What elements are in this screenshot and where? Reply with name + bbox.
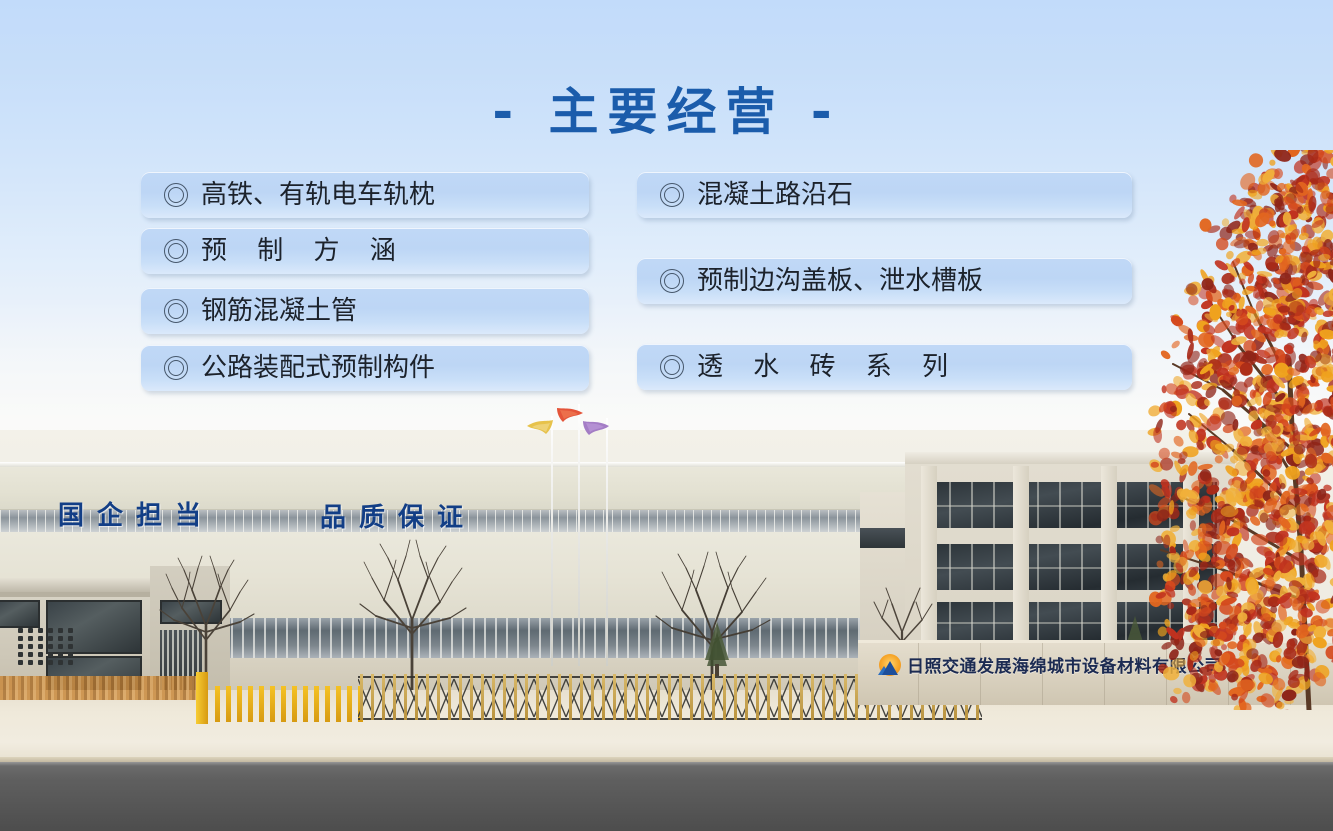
service-item-right-2[interactable]: 预制边沟盖板、泄水槽板: [637, 258, 1132, 304]
logo-mountain-front: [882, 661, 898, 675]
service-item-left-3[interactable]: 钢筋混凝土管: [141, 288, 589, 334]
bullet-ring-icon: [163, 298, 189, 324]
service-item-right-1[interactable]: 混凝土路沿石: [637, 172, 1132, 218]
guardhouse-window-2: [0, 600, 40, 628]
sun-mountain-logo-icon: [878, 654, 902, 676]
service-item-left-1[interactable]: 高铁、有轨电车轨枕: [141, 172, 589, 218]
office-pillar-2: [1101, 466, 1117, 651]
building-sign-right: 品质保证: [320, 497, 476, 534]
flagpole-3: [606, 418, 608, 666]
service-item-left-2[interactable]: 预 制 方 涵: [141, 228, 589, 274]
gate-post-yellow: [196, 672, 208, 724]
promo-banner: 国企担当 品质保证: [0, 0, 1333, 831]
yellow-barrier-gate: [215, 686, 365, 722]
bare-tree-1: [148, 548, 268, 688]
bullet-ring-icon: [163, 238, 189, 264]
office-pillar-1: [1013, 466, 1029, 651]
service-label: 混凝土路沿石: [697, 182, 853, 208]
service-label: 高铁、有轨电车轨枕: [201, 182, 435, 208]
gold-flag: [524, 418, 554, 448]
service-label: 钢筋混凝土管: [201, 298, 357, 324]
dry-grass-left: [0, 676, 200, 700]
service-item-right-3[interactable]: 透 水 砖 系 列: [637, 344, 1132, 390]
company-sign: 日照交通发展海绵城市设备材料有限公司: [878, 652, 1222, 677]
company-name-text: 日照交通发展海绵城市设备材料有限公司: [907, 652, 1222, 677]
guardhouse-vent-grid: [18, 628, 80, 668]
bullet-ring-icon: [163, 182, 189, 208]
building-sign-left: 国企担当: [58, 495, 214, 532]
service-label: 预 制 方 涵: [201, 238, 407, 264]
office-window-row-3: [927, 602, 1217, 642]
office-building: [905, 452, 1235, 657]
bullet-ring-icon: [659, 182, 685, 208]
purple-flag: [582, 420, 612, 450]
office-pillar-3: [1183, 466, 1199, 651]
bullet-ring-icon: [163, 355, 189, 381]
asphalt-road: [0, 762, 1333, 831]
office-window-row-1: [927, 482, 1217, 528]
flagpole-2: [578, 404, 580, 666]
service-label: 透 水 砖 系 列: [697, 354, 959, 380]
service-item-left-4[interactable]: 公路装配式预制构件: [141, 345, 589, 391]
bullet-ring-icon: [659, 268, 685, 294]
bare-tree-2: [352, 532, 472, 692]
flagpole-1: [551, 416, 553, 666]
service-label: 公路装配式预制构件: [201, 355, 435, 381]
service-label: 预制边沟盖板、泄水槽板: [697, 268, 983, 294]
shrub-conifer-1: [700, 620, 734, 676]
office-window-row-2: [927, 544, 1217, 590]
bullet-ring-icon: [659, 354, 685, 380]
